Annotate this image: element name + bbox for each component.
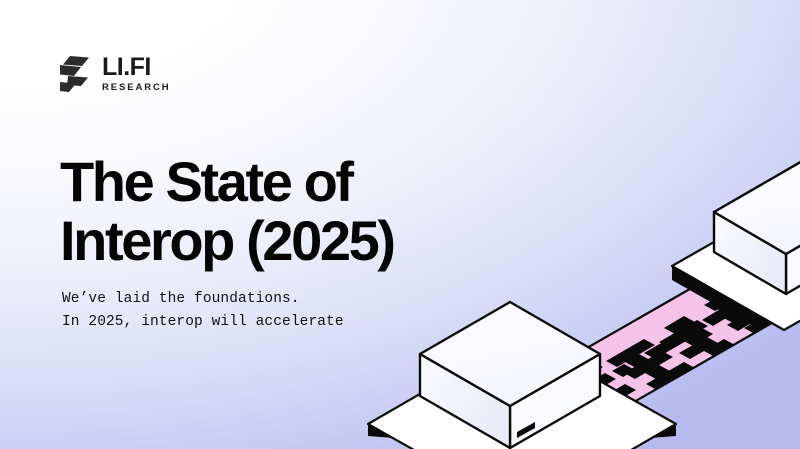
brand-text: LI.FI RESEARCH — [102, 55, 171, 93]
page-title-line-2: Interop (2025) — [60, 211, 394, 270]
lifi-logo-icon — [60, 55, 90, 93]
page-subtitle-line-2: In 2025, interop will accelerate — [62, 311, 344, 334]
brand-sub-wordmark: RESEARCH — [102, 83, 171, 93]
poster-canvas: LI.FI RESEARCH The State of Interop (202… — [0, 0, 800, 449]
page-title: The State of Interop (2025) — [60, 152, 394, 271]
brand-lockup: LI.FI RESEARCH — [60, 55, 171, 93]
bridge-group — [545, 262, 800, 419]
left-block-group — [368, 302, 676, 449]
right-block-group — [672, 160, 800, 330]
brand-wordmark: LI.FI — [102, 55, 171, 80]
page-subtitle-line-1: We’ve laid the foundations. — [62, 288, 344, 311]
page-title-line-1: The State of — [60, 152, 394, 211]
page-subtitle: We’ve laid the foundations. In 2025, int… — [62, 288, 344, 335]
